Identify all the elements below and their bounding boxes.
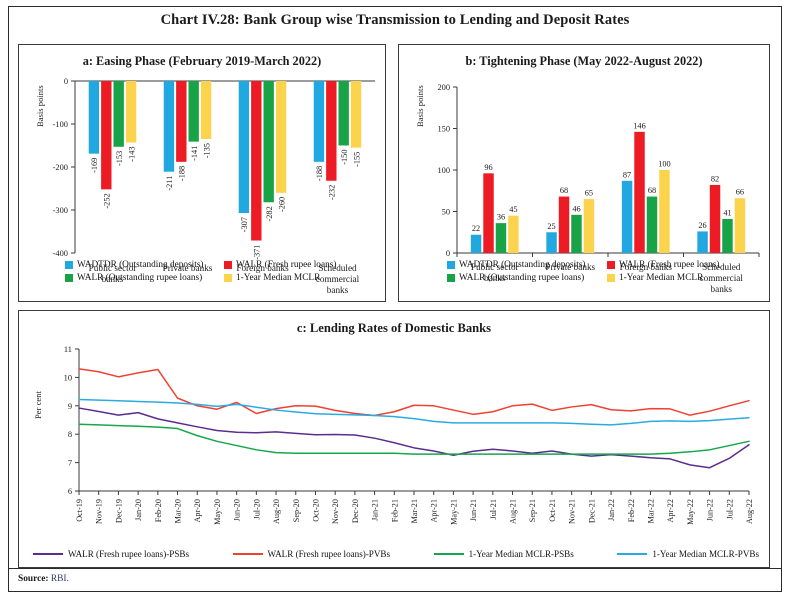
- bar: [251, 81, 261, 241]
- legend-label: WALR (Fresh rupee loans)-PSBs: [68, 549, 189, 559]
- legend-item-line-1: WALR (Fresh rupee loans)-PVBs: [233, 549, 391, 559]
- source-value: RBI.: [51, 574, 69, 584]
- line-series: [79, 408, 749, 468]
- bar: [263, 81, 273, 202]
- panel-tightening-phase: b: Tightening Phase (May 2022-August 202…: [398, 44, 770, 302]
- x-tick-label: Aug-21: [509, 499, 518, 524]
- category-label: banks: [327, 285, 349, 295]
- x-tick-label: May-20: [213, 499, 222, 525]
- y-tick-label: 9: [68, 402, 72, 411]
- bar-value-label: 36: [497, 213, 505, 222]
- y-tick-label: 6: [68, 487, 72, 496]
- source-divider: [9, 568, 781, 569]
- legend-label: WALR (Fresh rupee loans)-PVBs: [268, 549, 391, 559]
- x-tick-label: Dec-19: [114, 499, 123, 523]
- bar: [483, 173, 493, 253]
- x-tick-label: Feb-20: [154, 499, 163, 522]
- legend-swatch-mclr-icon: [224, 274, 232, 282]
- legend-label: 1-Year Median MCLR: [619, 273, 703, 283]
- legend-item-line-2: 1-Year Median MCLR-PSBs: [434, 549, 574, 559]
- bar: [722, 219, 732, 253]
- bar: [634, 132, 644, 253]
- bar-value-label: 26: [698, 221, 706, 230]
- panel-a-legend: WADTDR (Outstanding deposits)WALR (Fresh…: [65, 260, 377, 283]
- bar-value-label: -307: [240, 217, 249, 232]
- x-tick-label: May-22: [686, 499, 695, 525]
- source-note: Source: RBI.: [18, 574, 69, 584]
- bar: [176, 81, 186, 162]
- x-tick-label: May-21: [449, 499, 458, 525]
- x-tick-label: Aug-22: [745, 499, 754, 524]
- x-tick-label: Apr-21: [430, 499, 439, 522]
- y-tick-label: 0: [446, 249, 450, 258]
- bar-value-label: -169: [90, 158, 99, 173]
- bar-value-label: -155: [352, 152, 361, 167]
- x-tick-label: Oct-19: [75, 499, 84, 522]
- y-tick-label: -100: [53, 120, 68, 129]
- line-series: [79, 369, 749, 416]
- x-tick-label: Jul-21: [489, 499, 498, 519]
- bar-value-label: -188: [178, 166, 187, 181]
- y-tick-label: 100: [437, 166, 450, 175]
- bar-value-label: 146: [633, 121, 645, 130]
- legend-line-swatch-icon: [434, 553, 464, 555]
- x-tick-label: Jul-20: [252, 499, 261, 519]
- category-label: banks: [711, 284, 733, 294]
- source-label: Source:: [18, 574, 49, 584]
- x-tick-label: Nov-19: [95, 499, 104, 524]
- bar: [276, 81, 286, 193]
- legend-label: 1-Year Median MCLR-PSBs: [469, 549, 574, 559]
- bar: [584, 199, 594, 253]
- y-tick-label: 200: [437, 83, 450, 92]
- x-tick-label: Jan-20: [134, 499, 143, 521]
- bar-value-label: -282: [265, 206, 274, 221]
- bar: [508, 216, 518, 253]
- x-tick-label: Apr-20: [193, 499, 202, 522]
- bar: [546, 232, 556, 253]
- legend-item-wadtdr: WADTDR (Outstanding deposits): [447, 260, 601, 270]
- bar-value-label: 96: [484, 163, 492, 172]
- x-tick-label: Jan-22: [607, 499, 616, 521]
- bar: [496, 223, 506, 253]
- bar-value-label: -260: [277, 197, 286, 212]
- line-series: [79, 424, 749, 454]
- legend-item-line-0: WALR (Fresh rupee loans)-PSBs: [33, 549, 189, 559]
- legend-line-swatch-icon: [33, 553, 63, 555]
- panel-b-legend: WADTDR (Outstanding deposits)WALR (Fresh…: [447, 260, 761, 283]
- bar-value-label: 87: [623, 170, 631, 179]
- panel-easing-phase: a: Easing Phase (February 2019-March 202…: [18, 44, 386, 302]
- bar: [710, 185, 720, 253]
- legend-swatch-mclr-icon: [607, 274, 615, 282]
- bar-value-label: 100: [658, 160, 670, 169]
- y-tick-label: 0: [64, 77, 68, 86]
- legend-label: 1-Year Median MCLR-PVBs: [652, 549, 759, 559]
- bar-value-label: -150: [340, 150, 349, 165]
- x-tick-label: Dec-21: [587, 499, 596, 523]
- panel-c-legend: WALR (Fresh rupee loans)-PSBsWALR (Fresh…: [33, 549, 759, 559]
- bar: [164, 81, 174, 172]
- bar-value-label: -211: [165, 176, 174, 191]
- legend-item-walr_fresh: WALR (Fresh rupee loans): [607, 260, 761, 270]
- y-tick-label: 150: [437, 125, 450, 134]
- bar: [471, 235, 481, 253]
- bar-value-label: 68: [648, 186, 656, 195]
- bar: [188, 81, 198, 142]
- line-series: [79, 400, 749, 425]
- bar: [326, 81, 336, 181]
- bar-value-label: 82: [711, 174, 719, 183]
- legend-swatch-walr_fresh-icon: [224, 261, 232, 269]
- x-tick-label: Dec-20: [351, 499, 360, 523]
- bar: [89, 81, 99, 154]
- legend-swatch-walr_fresh-icon: [607, 261, 615, 269]
- legend-item-wadtdr: WADTDR (Outstanding deposits): [65, 260, 218, 270]
- x-tick-label: Jun-20: [233, 499, 242, 521]
- legend-swatch-wadtdr-icon: [447, 261, 455, 269]
- y-tick-label: -200: [53, 163, 68, 172]
- legend-swatch-walr_outstanding-icon: [447, 274, 455, 282]
- bar-value-label: 65: [585, 189, 593, 198]
- bar: [559, 197, 569, 253]
- x-tick-label: Jul-22: [725, 499, 734, 519]
- y-tick-label: 8: [68, 430, 72, 439]
- legend-item-walr_fresh: WALR (Fresh rupee loans): [224, 260, 377, 270]
- x-tick-label: Oct-20: [311, 499, 320, 522]
- chart-page: Chart IV.28: Bank Group wise Transmissio…: [0, 0, 790, 599]
- bar-value-label: 68: [560, 186, 568, 195]
- x-tick-label: Mar-22: [646, 499, 655, 523]
- bar: [647, 197, 657, 253]
- bar-value-label: 25: [547, 222, 555, 231]
- bar: [126, 81, 136, 142]
- bar-value-label: 46: [572, 204, 580, 213]
- bar: [239, 81, 249, 213]
- x-tick-label: Jun-22: [706, 499, 715, 521]
- legend-label: 1-Year Median MCLR: [236, 273, 320, 283]
- legend-label: WALR (Fresh rupee loans): [619, 260, 719, 270]
- bar-value-label: -252: [103, 193, 112, 208]
- x-tick-label: Nov-20: [331, 499, 340, 524]
- panel-c-plot: 67891011Oct-19Nov-19Dec-19Jan-20Feb-20Ma…: [19, 311, 771, 567]
- x-tick-label: Aug-20: [272, 499, 281, 524]
- x-tick-label: Oct-21: [548, 499, 557, 522]
- legend-label: WALR (Outstanding rupee loans): [459, 273, 584, 283]
- y-tick-label: 10: [64, 373, 72, 382]
- legend-item-walr_outstanding: WALR (Outstanding rupee loans): [65, 273, 218, 283]
- legend-label: WADTDR (Outstanding deposits): [459, 260, 586, 270]
- bar-value-label: -153: [115, 151, 124, 166]
- bar: [571, 215, 581, 253]
- legend-item-walr_outstanding: WALR (Outstanding rupee loans): [447, 273, 601, 283]
- x-tick-label: Mar-21: [410, 499, 419, 523]
- bar-value-label: -371: [253, 245, 262, 260]
- y-tick-label: 7: [68, 459, 72, 468]
- bar-value-label: -188: [315, 166, 324, 181]
- x-tick-label: Feb-22: [627, 499, 636, 522]
- bar-value-label: -141: [190, 146, 199, 161]
- bar: [338, 81, 348, 146]
- bar-value-label: -143: [127, 146, 136, 161]
- y-tick-label: 11: [64, 345, 72, 354]
- bar: [314, 81, 324, 162]
- legend-item-mclr: 1-Year Median MCLR: [224, 273, 377, 283]
- panel-lending-rates: c: Lending Rates of Domestic Banks Per c…: [18, 310, 770, 568]
- x-tick-label: Mar-20: [174, 499, 183, 523]
- legend-line-swatch-icon: [617, 553, 647, 555]
- x-tick-label: Feb-21: [390, 499, 399, 522]
- x-tick-label: Sep-21: [528, 499, 537, 522]
- y-tick-label: 50: [442, 208, 450, 217]
- bar: [622, 181, 632, 253]
- bar: [735, 198, 745, 253]
- x-tick-label: Sep-20: [292, 499, 301, 522]
- legend-swatch-walr_outstanding-icon: [65, 274, 73, 282]
- bar: [201, 81, 211, 139]
- legend-swatch-wadtdr-icon: [65, 261, 73, 269]
- legend-label: WADTDR (Outstanding deposits): [77, 260, 204, 270]
- bar: [351, 81, 361, 148]
- bar: [113, 81, 123, 147]
- legend-item-mclr: 1-Year Median MCLR: [607, 273, 761, 283]
- legend-label: WALR (Fresh rupee loans): [236, 260, 336, 270]
- page-title: Chart IV.28: Bank Group wise Transmissio…: [10, 12, 780, 29]
- bar-value-label: -232: [328, 185, 337, 200]
- bar: [659, 170, 669, 253]
- legend-label: WALR (Outstanding rupee loans): [77, 273, 202, 283]
- bar-value-label: 22: [472, 224, 480, 233]
- bar-value-label: 41: [723, 208, 731, 217]
- bar-value-label: 45: [509, 205, 517, 214]
- bar-value-label: 66: [736, 188, 744, 197]
- bar: [697, 231, 707, 253]
- legend-line-swatch-icon: [233, 553, 263, 555]
- x-tick-label: Jun-21: [469, 499, 478, 521]
- y-tick-label: -300: [53, 206, 68, 215]
- y-tick-label: -400: [53, 249, 68, 258]
- x-tick-label: Apr-22: [666, 499, 675, 522]
- x-tick-label: Jan-21: [371, 499, 380, 521]
- legend-item-line-3: 1-Year Median MCLR-PVBs: [617, 549, 759, 559]
- bar-value-label: -135: [202, 143, 211, 158]
- x-tick-label: Nov-21: [568, 499, 577, 524]
- bar: [101, 81, 111, 189]
